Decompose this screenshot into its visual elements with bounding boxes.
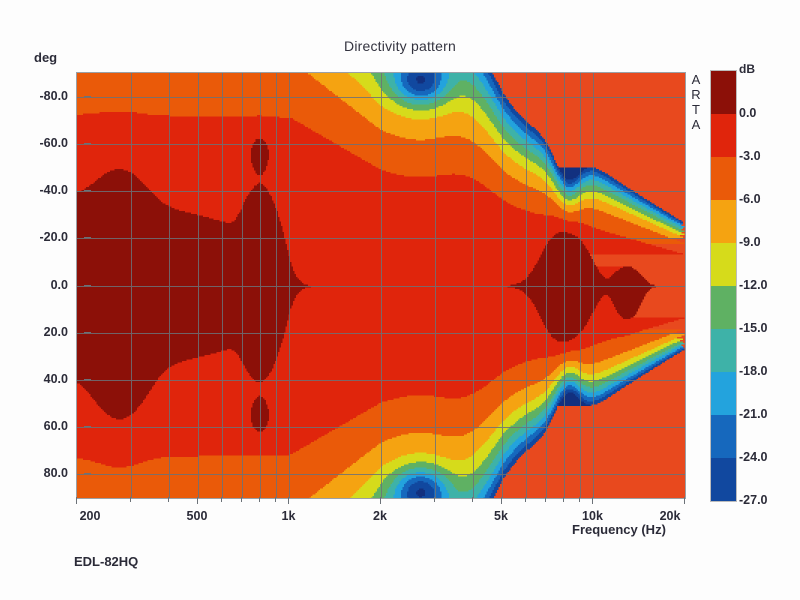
x-minor-tick-mark [275,497,276,502]
y-tick-label: 0.0 [51,278,68,292]
x-minor-tick-mark [472,497,473,502]
x-tick-label: 20k [660,509,681,523]
chart-caption: EDL-82HQ [74,554,138,569]
heatmap-surface [77,73,685,498]
x-minor-tick-mark [221,497,222,502]
colorbar-tick-label: -21.0 [739,407,768,421]
arta-watermark-letter: A [688,117,704,132]
y-tick-label: 80.0 [44,466,68,480]
colorbar-tick-label: -18.0 [739,364,768,378]
page-title: Directivity pattern [0,38,800,54]
y-tick-label: 60.0 [44,419,68,433]
x-tick-mark [501,497,502,504]
colorbar-tick-label: -12.0 [739,278,768,292]
x-tick-label: 2k [373,509,387,523]
y-tick-mark [84,332,91,333]
arta-watermark-letter: A [688,72,704,87]
x-tick-label: 10k [582,509,603,523]
y-tick-label: -60.0 [40,136,69,150]
y-tick-label: -20.0 [40,230,69,244]
y-tick-mark [84,96,91,97]
x-minor-tick-mark [168,497,169,502]
x-tick-label: 5k [494,509,508,523]
x-tick-label: 200 [80,509,101,523]
colorbar-band [711,458,736,501]
x-tick-mark [76,497,77,504]
x-minor-tick-mark [579,497,580,502]
y-tick-mark [84,379,91,380]
x-tick-mark [592,497,593,504]
y-axis-ticks: -80.0-60.0-40.0-20.00.020.040.060.080.0 [16,72,68,497]
x-tick-mark [380,497,381,504]
colorbar-ticks: 0.0-3.0-6.0-9.0-12.0-15.0-18.0-21.0-24.0… [739,70,797,500]
x-tick-mark [288,497,289,504]
arta-watermark-letter: T [688,102,704,117]
x-minor-tick-mark [563,497,564,502]
y-tick-label: -80.0 [40,89,69,103]
y-tick-label: -40.0 [40,183,69,197]
colorbar-tick-label: -6.0 [739,192,761,206]
colorbar-band [711,286,736,329]
y-tick-mark [84,473,91,474]
colorbar-band [711,200,736,243]
y-tick-mark [84,426,91,427]
colorbar-tick-label: -27.0 [739,493,768,507]
x-tick-label: 1k [282,509,296,523]
y-tick-mark [84,190,91,191]
y-tick-label: 40.0 [44,372,68,386]
colorbar-tick-label: -24.0 [739,450,768,464]
colorbar-gradient [710,70,737,502]
colorbar-tick-label: -3.0 [739,149,761,163]
x-tick-mark [684,497,685,504]
colorbar-tick-label: -15.0 [739,321,768,335]
x-minor-tick-mark [545,497,546,502]
arta-watermark: ARTA [688,72,704,132]
y-tick-mark [84,143,91,144]
chart-root: Directivity pattern deg Frequency (Hz) E… [0,0,800,600]
directivity-heatmap [76,72,686,499]
colorbar-band [711,71,736,114]
colorbar-band [711,415,736,458]
colorbar-band [711,372,736,415]
colorbar-tick-label: 0.0 [739,106,756,120]
x-minor-tick-mark [434,497,435,502]
y-tick-mark [84,237,91,238]
colorbar-band [711,114,736,157]
x-minor-tick-mark [130,497,131,502]
arta-watermark-letter: R [688,87,704,102]
x-minor-tick-mark [241,497,242,502]
colorbar-band [711,243,736,286]
x-tick-mark [197,497,198,504]
x-minor-tick-mark [525,497,526,502]
colorbar-tick-label: -9.0 [739,235,761,249]
y-tick-label: 20.0 [44,325,68,339]
colorbar-band [711,157,736,200]
y-axis-label: deg [34,50,57,65]
colorbar-band [711,329,736,372]
x-axis-ticks: 2005001k2k5k10k20k [76,497,684,537]
x-tick-label: 500 [187,509,208,523]
x-minor-tick-mark [259,497,260,502]
y-tick-mark [84,285,91,286]
